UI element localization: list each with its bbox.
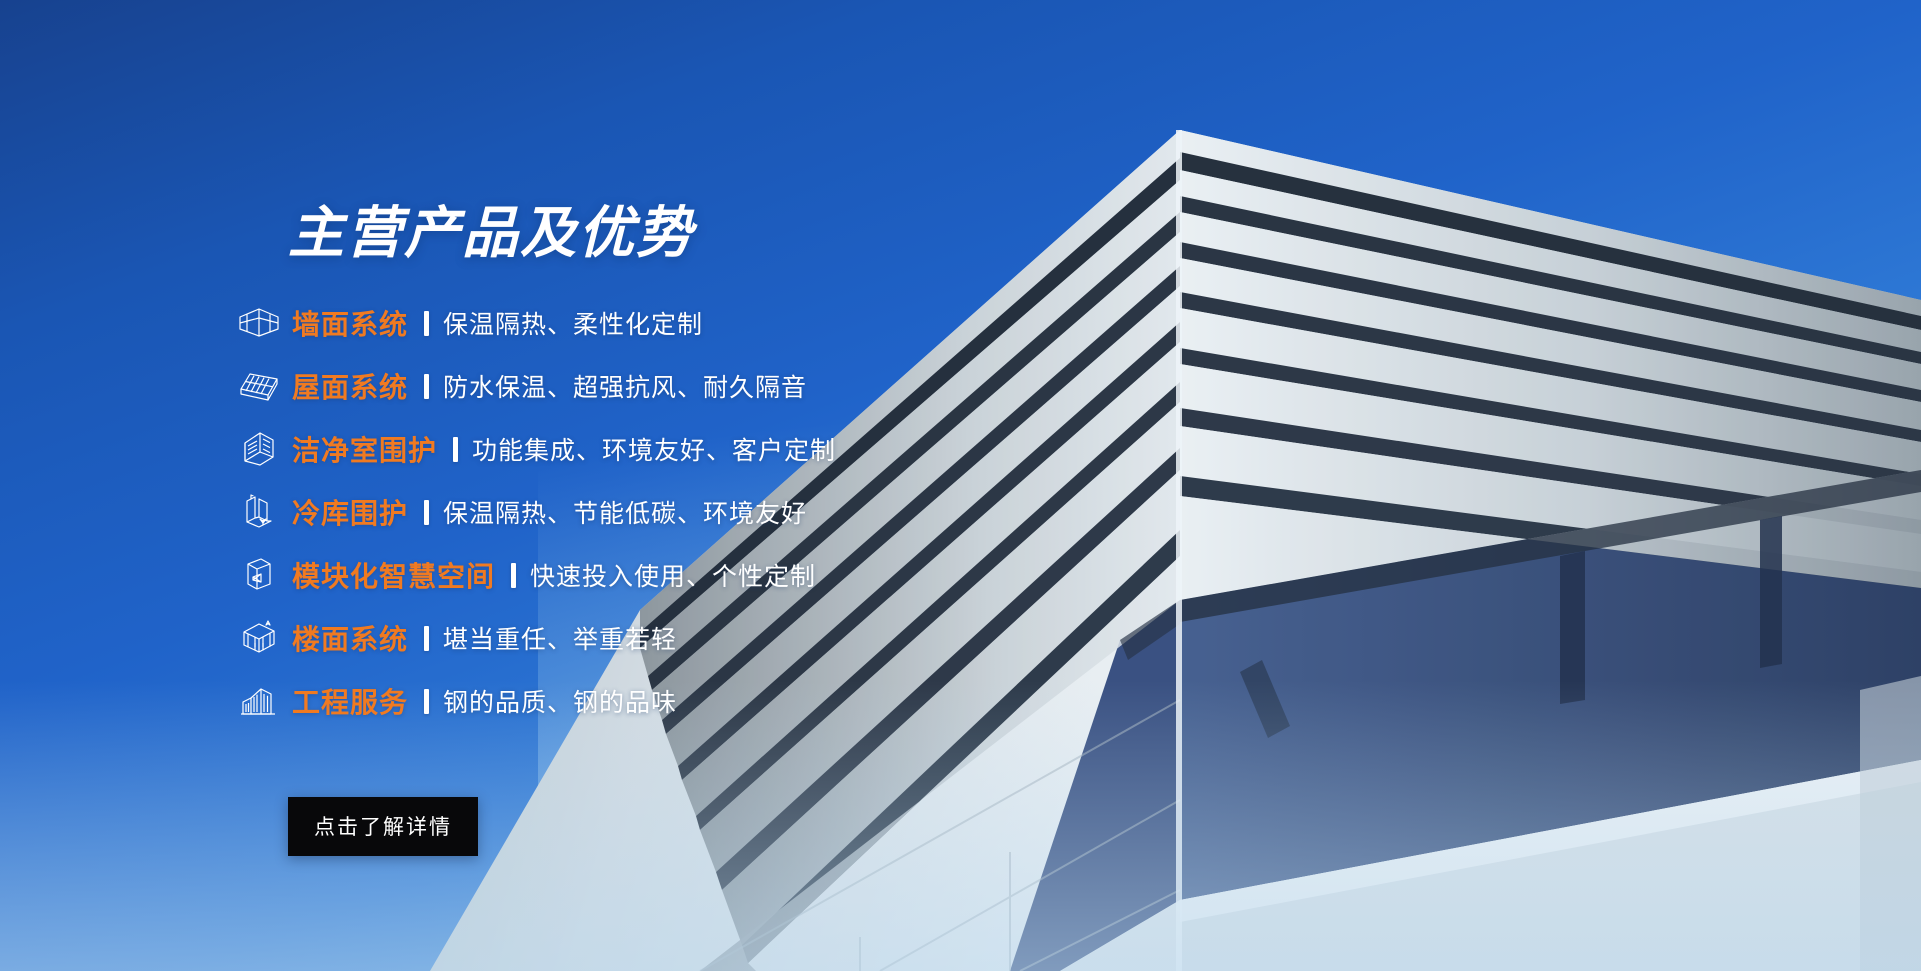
product-description: 功能集成、环境友好、客户定制 [472,431,836,467]
divider-bar [424,374,429,399]
product-name: 工程服务 [292,681,408,721]
floor-deck-icon [232,618,286,658]
product-name: 楼面系统 [292,618,408,658]
divider-bar [511,563,516,588]
roof-panel-icon [232,366,286,406]
divider-bar [424,689,429,714]
cold-storage-icon [232,492,286,532]
banner-content: 主营产品及优势 墙面系统 保温隔热、柔性化定制 [0,0,1100,971]
product-description: 钢的品质、钢的品味 [443,683,677,719]
product-name: 墙面系统 [292,303,408,343]
product-name: 屋面系统 [292,366,408,406]
product-advantages-banner: 主营产品及优势 墙面系统 保温隔热、柔性化定制 [0,0,1921,971]
cleanroom-building-icon [232,429,286,469]
list-item[interactable]: 墙面系统 保温隔热、柔性化定制 [232,300,1092,346]
list-item[interactable]: 屋面系统 防水保温、超强抗风、耐久隔音 [232,363,1092,409]
learn-more-button[interactable]: 点击了解详情 [288,797,478,856]
product-description: 保温隔热、节能低碳、环境友好 [443,494,807,530]
engineering-service-icon [232,681,286,721]
list-item[interactable]: 模块化智慧空间 快速投入使用、个性定制 [232,552,1092,598]
product-description: 保温隔热、柔性化定制 [443,305,703,341]
divider-bar [424,311,429,336]
wall-panel-icon [232,303,286,343]
product-list: 墙面系统 保温隔热、柔性化定制 屋面系统 防水保温、超强抗风、 [232,300,1092,741]
divider-bar [424,500,429,525]
page-title: 主营产品及优势 [288,206,694,262]
list-item[interactable]: 冷库围护 保温隔热、节能低碳、环境友好 [232,489,1092,535]
divider-bar [424,626,429,651]
modular-cube-icon [232,555,286,595]
list-item[interactable]: 工程服务 钢的品质、钢的品味 [232,678,1092,724]
list-item[interactable]: 洁净室围护 功能集成、环境友好、客户定制 [232,426,1092,472]
divider-bar [453,437,458,462]
list-item[interactable]: 楼面系统 堪当重任、举重若轻 [232,615,1092,661]
product-name: 冷库围护 [292,492,408,532]
product-name: 模块化智慧空间 [292,555,495,595]
product-name: 洁净室围护 [292,429,437,469]
product-description: 防水保温、超强抗风、耐久隔音 [443,368,807,404]
product-description: 堪当重任、举重若轻 [443,620,677,656]
product-description: 快速投入使用、个性定制 [530,557,816,593]
